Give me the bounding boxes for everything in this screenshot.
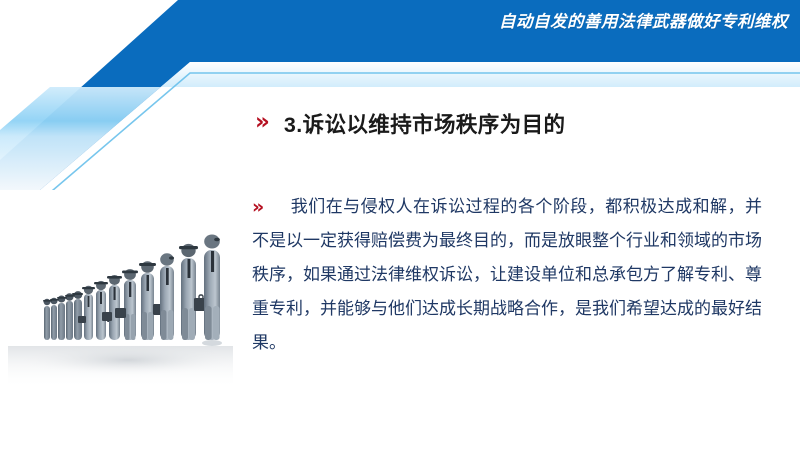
businessmen-queue-illustration (8, 228, 233, 388)
body-paragraph: »我们在与侵权人在诉讼过程的各个阶段，都积极达成和解，并不是以一定获得赔偿费为最… (252, 190, 762, 360)
floor-fade (8, 346, 233, 388)
businessmen-queue-graphic (8, 228, 233, 388)
figure-group-mid (78, 275, 122, 340)
section-heading: » 3.诉讼以维持市场秩序为目的 (255, 108, 565, 139)
double-chevron-icon: » (255, 111, 270, 134)
double-chevron-icon-body: » (252, 198, 264, 217)
header-title: 自动自发的善用法律武器做好专利维权 (499, 8, 788, 32)
body-paragraph-text: 我们在与侵权人在诉讼过程的各个阶段，都积极达成和解，并不是以一定获得赔偿费为最终… (252, 197, 762, 352)
figure-group-near (115, 235, 222, 347)
figure-group-far (43, 291, 83, 340)
body-block: »我们在与侵权人在诉讼过程的各个阶段，都积极达成和解，并不是以一定获得赔偿费为最… (252, 190, 762, 360)
slide-root: 自动自发的善用法律武器做好专利维权 » 3.诉讼以维持市场秩序为目的 »我们在与… (0, 0, 800, 450)
section-heading-text: 3.诉讼以维持市场秩序为目的 (284, 108, 566, 139)
